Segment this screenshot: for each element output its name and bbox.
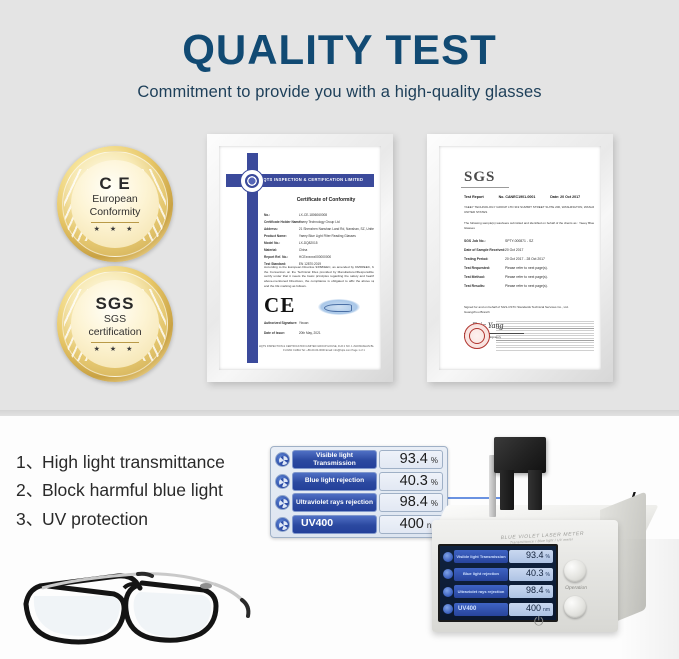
uv-meter-icon <box>443 587 453 597</box>
sgs-field-row: Testing Period: 20 Oct 2017 - 28 Oct 201… <box>464 257 545 261</box>
page-title: QUALITY TEST <box>0 26 679 74</box>
sgs-badge-line1: SGS <box>104 313 126 326</box>
sensor-head <box>494 437 546 473</box>
lcd-value-box: 98.4 % <box>509 585 553 598</box>
product-glasses-image <box>18 552 258 652</box>
sgs-red-seal-icon <box>464 323 490 349</box>
sgs-report-number: No. CANEC1901-0001 <box>499 195 536 199</box>
ce-field-label: Certificate Holder Name: <box>264 220 298 224</box>
ce-band-text: HQTS INSPECTION & CERTIFICATION LIMITED <box>260 177 370 182</box>
ce-date-value: 20th May, 2021 <box>299 331 321 335</box>
sgs-sample-note: The following sample(s) was/were submitt… <box>464 221 594 231</box>
sgs-field-label: Test Results: <box>464 284 504 288</box>
sgs-field-row: Test Requested: Please refer to next pag… <box>464 266 548 270</box>
ce-logo-mark: C E <box>264 293 292 318</box>
lcd-unit: % <box>546 554 550 560</box>
ce-badge-line1: European <box>92 193 138 206</box>
sgs-fine-print <box>496 321 594 351</box>
sgs-field-value: 20 Oct 2017 <box>505 248 523 252</box>
ce-field-row: Report Ref. No.: HCExxxxxx000000000 <box>264 255 331 259</box>
list-item: 2、 Block harmful blue light <box>16 476 276 504</box>
ce-field-value: 21 Shenzhen Nanshan Land Rd, Nanshan, SZ… <box>299 227 374 231</box>
lcd-row: Visible light Transmission 93.4 % <box>443 549 553 565</box>
measurement-row: Visible light Transmission 93.4 % <box>275 450 443 469</box>
measurement-value-box: 93.4 % <box>379 450 443 469</box>
measurement-label: UV400 <box>292 515 377 534</box>
uv-meter-icon <box>275 474 290 489</box>
ce-date-label: Date of Issue: <box>264 331 298 335</box>
quality-test-infographic: QUALITY TEST Commitment to provide you w… <box>0 0 679 659</box>
measurement-value: 98.4 <box>400 494 428 510</box>
list-item: 1、 High light transmittance <box>16 448 276 476</box>
measurement-value-box: 98.4 % <box>379 493 443 512</box>
device-lcd-screen: Visible light Transmission 93.4 % Blue l… <box>438 544 558 622</box>
sgs-logo: SGS <box>464 169 495 186</box>
ce-field-label: Report Ref. No.: <box>264 255 298 259</box>
ce-field-value: HCExxxxxx000000000 <box>299 255 331 259</box>
measurement-unit: % <box>431 499 438 508</box>
sgs-field-row: Test Results: Please refer to next page(… <box>464 284 548 288</box>
sgs-signed-label: Signed for and on behalf of SGS-CSTC Sta… <box>464 305 584 315</box>
uv-meter-icon <box>443 552 453 562</box>
badge-inner: C E European Conformity ★ ★ ★ <box>71 160 159 248</box>
sgs-report-frame: SGS Test Report No. CANEC1901-0001 Date:… <box>427 134 613 382</box>
lcd-label: Visible light Transmission <box>454 550 508 563</box>
measurement-value: 400 <box>400 516 424 532</box>
measurement-callout-panel: Visible light Transmission 93.4 % Blue l… <box>270 446 448 538</box>
ce-field-value: Yaeey Technology Group Ltd <box>299 220 340 224</box>
feature-text: UV protection <box>42 505 148 533</box>
list-item: 3、 UV protection <box>16 505 276 533</box>
sgs-certification-badge: SGS SGS certification ★ ★ ★ <box>57 266 173 382</box>
sgs-field-value: SPTY-000871 - SZ <box>505 239 533 243</box>
ce-field-label: Material: <box>264 248 298 252</box>
feature-number: 1、 <box>16 448 42 476</box>
feature-text: Block harmful blue light <box>42 476 223 504</box>
sensor-leg-right <box>528 470 542 510</box>
ce-field-label: Model No.: <box>264 241 298 245</box>
lcd-unit: % <box>546 572 550 578</box>
ce-signature-value: Yixuan <box>299 321 309 325</box>
lcd-label: UV400 <box>454 603 508 616</box>
sgs-field-row: Date of Sample Received: 20 Oct 2017 <box>464 248 523 252</box>
header: QUALITY TEST Commitment to provide you w… <box>0 0 679 120</box>
hqts-seal-icon <box>240 169 264 193</box>
ce-field-value: China <box>299 248 307 252</box>
ce-badge-line2: Conformity <box>90 206 141 219</box>
sgs-field-value: Please refer to next page(s). <box>505 284 548 288</box>
lcd-value: 93.4 <box>526 550 544 560</box>
uv-meter-icon <box>443 604 453 614</box>
feature-text: High light transmittance <box>42 448 225 476</box>
lcd-value: 40.3 <box>526 568 544 578</box>
power-button[interactable] <box>564 596 586 618</box>
ce-field-value: LX-CE-1806060008 <box>299 213 327 217</box>
ce-field-row: No.: LX-CE-1806060008 <box>264 213 327 217</box>
lcd-value-box: 40.3 % <box>509 568 553 581</box>
lcd-value-box: 400 nm <box>509 603 553 616</box>
ce-field-value: LX-DQ82015 <box>299 241 318 245</box>
uv-meter-icon <box>275 452 290 467</box>
measurement-unit: % <box>431 478 438 487</box>
measurement-unit: % <box>431 456 438 465</box>
sgs-badge-stars: ★ ★ ★ <box>94 345 137 353</box>
ce-field-row: Address: 21 Shenzhen Nanshan Land Rd, Na… <box>264 227 374 231</box>
ce-date-row: Date of Issue: 20th May, 2021 <box>264 331 321 335</box>
ce-signature-label: Authorized Signature: <box>264 321 298 325</box>
sgs-badge-line2: certification <box>88 326 141 339</box>
ce-footer-text: HQTS INSPECTION & CERTIFICATION LIMITED … <box>256 345 374 353</box>
uv-meter-icon <box>443 569 453 579</box>
measurement-row: UV400 400 nm <box>275 515 443 534</box>
ce-signature-row: Authorized Signature: Yixuan <box>264 321 308 325</box>
ce-field-label: Product Name: <box>264 234 298 238</box>
lcd-value: 98.4 <box>526 585 544 595</box>
measurement-value-box: 40.3 % <box>379 472 443 491</box>
operation-button[interactable] <box>564 560 586 582</box>
lcd-value: 400 <box>526 603 541 613</box>
measurement-label: Blue light rejection <box>292 472 377 491</box>
sgs-field-label: Test Method: <box>464 275 504 279</box>
lcd-label: Ultraviolet rays rejection <box>454 585 508 598</box>
page-subtitle: Commitment to provide you with a high-qu… <box>0 83 679 102</box>
sgs-report-title: Test Report <box>464 195 484 199</box>
sgs-field-value: Please refer to next page(s). <box>505 266 548 270</box>
ce-field-row: Material: China <box>264 248 307 252</box>
feature-list: 1、 High light transmittance 2、 Block har… <box>16 448 276 533</box>
ce-declaration-paragraph: According to the European Directive 93/6… <box>264 265 374 288</box>
badge-divider <box>91 222 139 223</box>
measurement-row: Ultraviolet rays rejection 98.4 % <box>275 493 443 512</box>
ce-field-row: Product Name: Yaeey Blue Light Filter Re… <box>264 234 356 238</box>
measurement-value: 40.3 <box>400 473 428 489</box>
sgs-field-label: Testing Period: <box>464 257 504 261</box>
sgs-field-label: Test Requested: <box>464 266 504 270</box>
operation-button-label: Operation <box>555 585 596 591</box>
lcd-value-box: 93.4 % <box>509 550 553 563</box>
lcd-row: Ultraviolet rays rejection 98.4 % <box>443 584 553 600</box>
ce-field-row: Certificate Holder Name: Yaeey Technolog… <box>264 220 340 224</box>
ce-mark-text: C E <box>99 175 130 193</box>
sgs-client-address: YAEEY TECHNOLOGY GROUP LTD 319 SUMMIT ST… <box>464 205 594 215</box>
measurement-label: Visible light Transmission <box>292 450 377 469</box>
sgs-report-date: Date: 20 Oct 2017 <box>550 195 580 199</box>
uv-meter-icon <box>275 495 290 510</box>
ce-certificate-title: Certificate of Conformity <box>266 197 374 203</box>
ce-field-label: Address: <box>264 227 298 231</box>
lcd-unit: nm <box>543 607 550 613</box>
sgs-field-value: 20 Oct 2017 - 28 Oct 2017 <box>505 257 545 261</box>
sgs-report-header: Test Report No. CANEC1901-0001 Date: 20 … <box>464 195 594 199</box>
sensor-leg-left <box>500 470 514 510</box>
frame-mat: HQTS INSPECTION & CERTIFICATION LIMITED … <box>219 146 381 370</box>
ce-field-row: Model No.: LX-DQ82015 <box>264 241 318 245</box>
sgs-field-label: SGS Job No.: <box>464 239 504 243</box>
sgs-report-paper: SGS Test Report No. CANEC1901-0001 Date:… <box>446 153 594 363</box>
ce-field-value: Yaeey Blue Light Filter Reading Glasses <box>299 234 356 238</box>
ce-field-label: No.: <box>264 213 298 217</box>
lcd-unit: % <box>546 589 550 595</box>
ce-certificate-paper: HQTS INSPECTION & CERTIFICATION LIMITED … <box>226 153 374 363</box>
feature-number: 3、 <box>16 505 42 533</box>
sgs-field-row: Test Method: Please refer to next page(s… <box>464 275 548 279</box>
badge-divider <box>91 342 139 343</box>
ce-badge-stars: ★ ★ ★ <box>94 225 137 233</box>
measurement-label: Ultraviolet rays rejection <box>292 493 377 512</box>
measurement-row: Blue light rejection 40.3 % <box>275 472 443 491</box>
lcd-label: Blue light rejection <box>454 568 508 581</box>
ce-watermark-icon <box>318 299 360 315</box>
power-icon: ⏻ <box>534 614 544 629</box>
sgs-field-row: SGS Job No.: SPTY-000871 - SZ <box>464 239 533 243</box>
ce-certificate-frame: HQTS INSPECTION & CERTIFICATION LIMITED … <box>207 134 393 382</box>
sgs-mark-text: SGS <box>96 295 135 313</box>
ce-certification-badge: C E European Conformity ★ ★ ★ <box>57 146 173 262</box>
sgs-field-value: Please refer to next page(s). <box>505 275 548 279</box>
badge-inner: SGS SGS certification ★ ★ ★ <box>71 280 159 368</box>
sgs-field-label: Date of Sample Received: <box>464 248 504 252</box>
measurement-value: 93.4 <box>400 451 428 467</box>
uv-meter-icon <box>275 517 290 532</box>
lcd-row: Blue light rejection 40.3 % <box>443 567 553 583</box>
feature-number: 2、 <box>16 476 42 504</box>
frame-mat: SGS Test Report No. CANEC1901-0001 Date:… <box>439 146 601 370</box>
